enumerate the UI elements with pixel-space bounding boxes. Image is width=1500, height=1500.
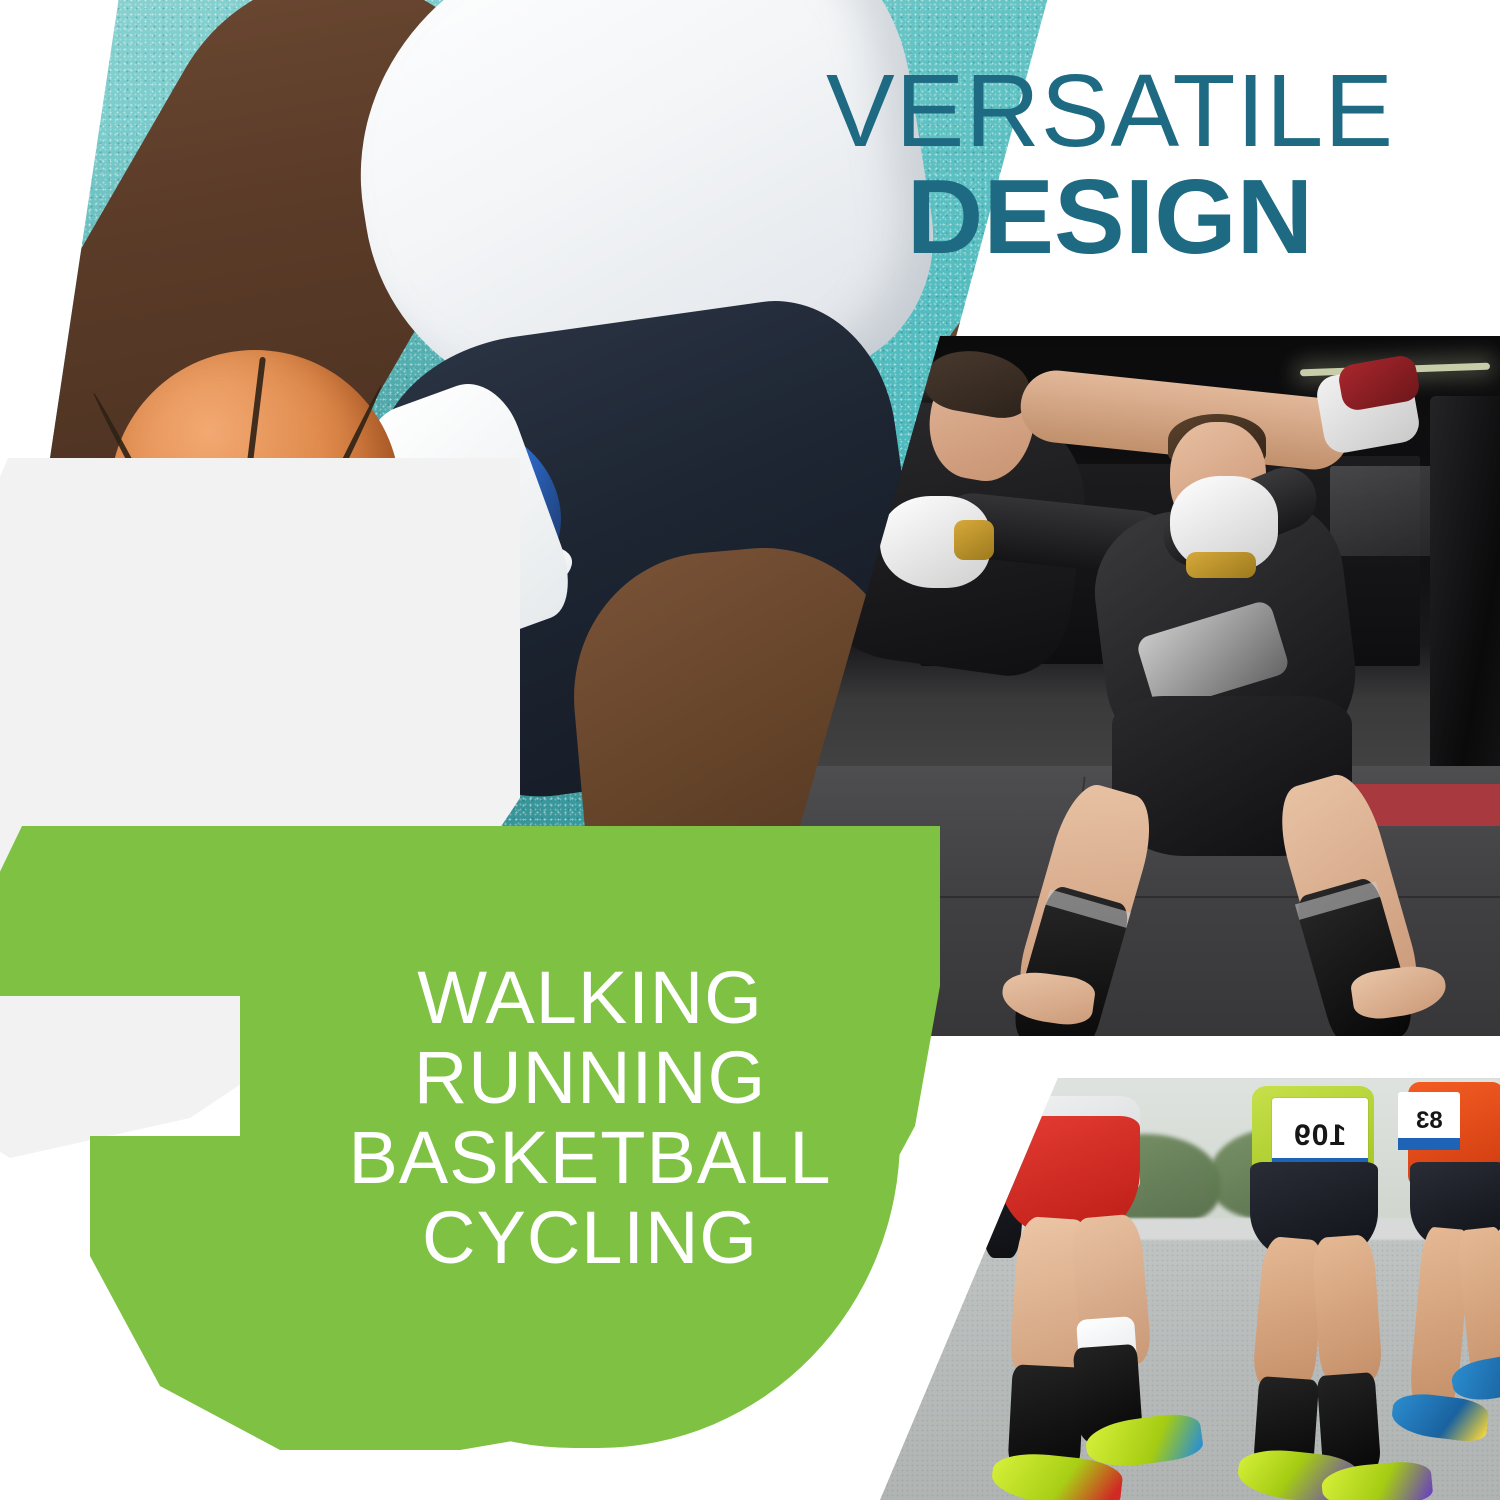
boxing-glove: [880, 496, 990, 588]
road-runners-photo: 83 109: [880, 1078, 1500, 1500]
boxing-glove: [1170, 476, 1278, 572]
race-bib-number: 83: [1416, 1107, 1443, 1135]
runner-a-accent: [990, 1096, 1024, 1148]
marketing-banner: FOREVER: [0, 0, 1500, 1500]
activities-list: WALKING RUNNING BASKETBALL CYCLING: [290, 958, 890, 1278]
page-title: VERSATILE DESIGN: [780, 62, 1440, 269]
headline-line-2: DESIGN: [780, 167, 1440, 269]
activity-basketball: BASKETBALL: [290, 1118, 890, 1198]
race-bib-number: 109: [1293, 1119, 1346, 1153]
activity-running: RUNNING: [290, 1038, 890, 1118]
runner-b-thigh: [1311, 1234, 1383, 1384]
activity-cycling: CYCLING: [290, 1198, 890, 1278]
race-bib: 83: [1398, 1092, 1460, 1150]
road-curb: [880, 1218, 1500, 1240]
activity-walking: WALKING: [290, 958, 890, 1038]
headline-line-1: VERSATILE: [780, 62, 1440, 161]
